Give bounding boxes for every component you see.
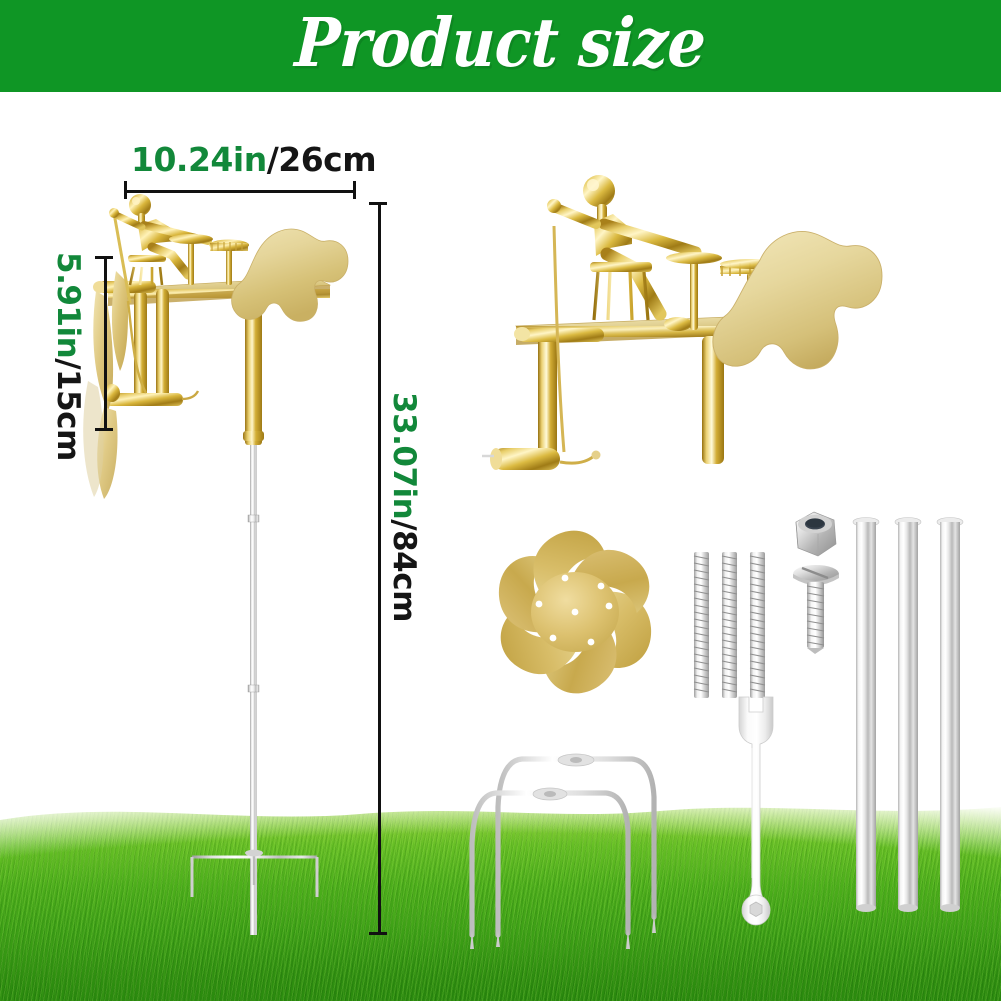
wrench-body	[739, 697, 773, 925]
figure-head	[129, 194, 151, 216]
detail-head	[583, 175, 615, 207]
rotor-center-hole	[572, 609, 579, 616]
total-height-cap-top	[369, 202, 387, 205]
detail-crossbar	[518, 328, 604, 342]
detail-leg-left	[538, 334, 557, 462]
total-height-label: 33.07in/84cm	[386, 392, 422, 622]
detail-drummer-figure	[547, 175, 696, 331]
detail-guitar-tail-vane	[713, 232, 882, 369]
threaded-rod-2	[722, 552, 737, 698]
ground-stake-front	[470, 788, 630, 949]
rotor-height-cm: /15cm	[50, 358, 86, 461]
wrench-part	[726, 692, 806, 932]
assembled-product-illustration	[72, 185, 492, 985]
pole-joint-lower	[248, 685, 259, 692]
width-cap-left	[124, 181, 127, 199]
detail-product-illustration	[482, 168, 942, 498]
total-height-inches: 33.07in	[386, 392, 422, 519]
total-height-cm: /84cm	[386, 519, 422, 622]
rotor-height-cap-top	[95, 256, 113, 259]
detail-pedal	[664, 317, 692, 331]
width-cm: /26cm	[267, 140, 376, 179]
total-height-cap-bottom	[369, 932, 387, 935]
pole-joint-upper	[248, 515, 259, 522]
width-inches: 10.24in	[131, 140, 267, 179]
fasteners-part	[784, 508, 854, 658]
guitar-tail-vane	[232, 229, 348, 321]
width-cap-right	[353, 181, 356, 199]
rotor-height-dim-line	[104, 256, 107, 431]
pole-segment-3	[937, 518, 963, 913]
pole-segment-1	[853, 518, 879, 913]
pinwheel-rotor-part	[462, 512, 692, 727]
pan-head-screw	[793, 565, 839, 654]
page-title: Product size	[294, 10, 708, 82]
rotor-height-inches: 5.91in	[50, 252, 86, 358]
pole-segments-part	[852, 512, 972, 927]
infographic-canvas: Product size	[0, 0, 1001, 1001]
stool-seat	[128, 255, 166, 262]
cymbal-left	[169, 234, 213, 244]
pole-segment-2	[895, 518, 921, 913]
rotor-height-label: 5.91in/15cm	[50, 252, 86, 461]
lock-nut	[796, 512, 836, 556]
rotor-height-cap-bottom	[95, 428, 113, 431]
detail-stool-seat	[590, 262, 652, 272]
threaded-rod-1	[694, 552, 709, 698]
threaded-rods-part	[692, 552, 772, 712]
header-banner: Product size	[0, 0, 1001, 92]
width-dim-line	[124, 190, 356, 193]
ground-stake-back	[496, 754, 656, 947]
width-label: 10.24in/26cm	[131, 140, 376, 179]
threaded-rod-3	[750, 552, 765, 698]
total-height-dim-line	[378, 202, 381, 935]
detail-cymbal-left	[666, 252, 722, 264]
ground-stakes-part	[460, 735, 690, 950]
detail-arm-left	[556, 208, 596, 224]
